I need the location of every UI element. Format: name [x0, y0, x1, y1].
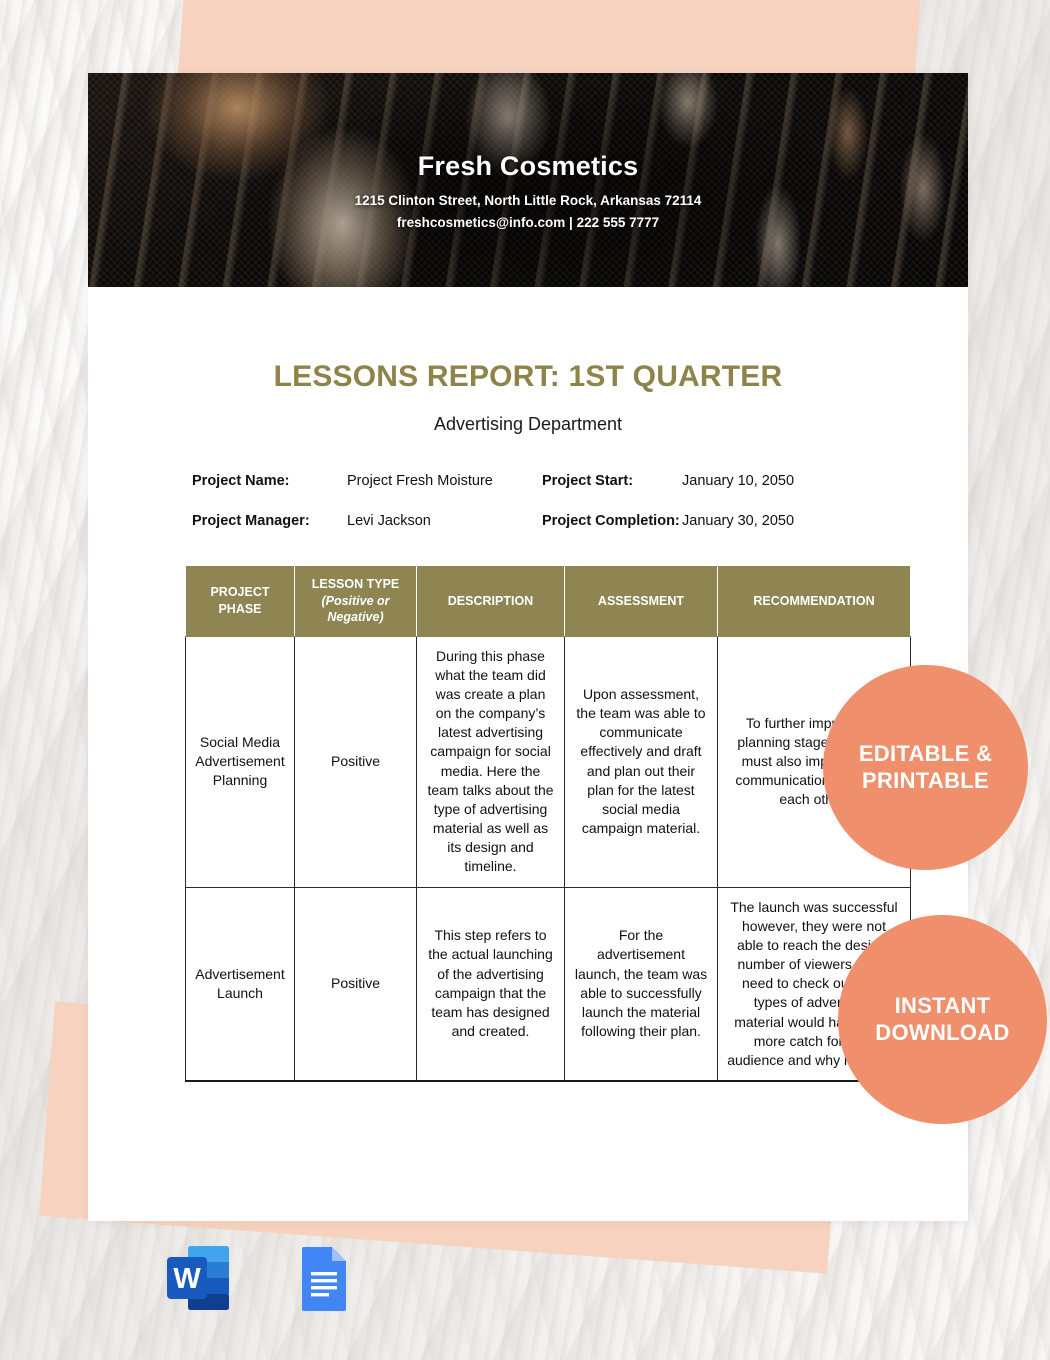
company-contact: freshcosmetics@info.com | 222 555 7777	[88, 215, 968, 230]
table-head: PROJECT PHASE LESSON TYPE (Positive or N…	[186, 566, 911, 637]
cell-lesson-type: Positive	[295, 887, 417, 1081]
badge-editable-printable: EDITABLE & PRINTABLE	[823, 665, 1028, 870]
badge-instant-download: INSTANT DOWNLOAD	[838, 915, 1047, 1124]
project-name-label: Project Name:	[192, 473, 347, 489]
header-banner: Fresh Cosmetics 1215 Clinton Street, Nor…	[88, 73, 968, 287]
cell-assessment: Upon assessment, the team was able to co…	[565, 636, 718, 887]
project-completion-value: January 30, 2050	[682, 513, 872, 529]
page-title: LESSONS REPORT: 1ST QUARTER	[88, 360, 968, 394]
company-name: Fresh Cosmetics	[88, 151, 968, 182]
column-header-description: DESCRIPTION	[417, 566, 565, 637]
svg-text:W: W	[173, 1263, 201, 1295]
project-name-value: Project Fresh Moisture	[347, 473, 542, 489]
project-completion-label: Project Completion:	[542, 513, 682, 529]
lessons-table: PROJECT PHASE LESSON TYPE (Positive or N…	[185, 565, 911, 1082]
company-address: 1215 Clinton Street, North Little Rock, …	[88, 193, 968, 208]
column-header-lesson-type: LESSON TYPE (Positive or Negative)	[295, 566, 417, 637]
google-docs-icon[interactable]	[290, 1243, 358, 1313]
project-start-value: January 10, 2050	[682, 473, 872, 489]
file-format-icons: W	[164, 1243, 358, 1313]
table-body: Social Media Advertisement Planning Posi…	[186, 636, 911, 1081]
cell-project-phase: Advertisement Launch	[186, 887, 295, 1081]
table-row: Advertisement Launch Positive This step …	[186, 887, 911, 1081]
lesson-type-main-label: LESSON TYPE	[312, 577, 400, 591]
lesson-type-note-label: (Positive or Negative)	[299, 593, 412, 626]
banner-text-block: Fresh Cosmetics 1215 Clinton Street, Nor…	[88, 151, 968, 230]
project-manager-value: Levi Jackson	[347, 513, 542, 529]
table-header-row: PROJECT PHASE LESSON TYPE (Positive or N…	[186, 566, 911, 637]
column-header-recommendation: RECOMMENDATION	[718, 566, 911, 637]
cell-project-phase: Social Media Advertisement Planning	[186, 636, 295, 887]
table-row: Social Media Advertisement Planning Posi…	[186, 636, 911, 887]
column-header-assessment: ASSESSMENT	[565, 566, 718, 637]
project-meta-grid: Project Name: Project Fresh Moisture Pro…	[192, 473, 872, 529]
cell-description: During this phase what the team did was …	[417, 636, 565, 887]
project-manager-label: Project Manager:	[192, 513, 347, 529]
page-subtitle: Advertising Department	[88, 414, 968, 435]
word-icon[interactable]: W	[164, 1243, 232, 1313]
cell-description: This step refers to the actual launching…	[417, 887, 565, 1081]
cell-lesson-type: Positive	[295, 636, 417, 887]
document-page: Fresh Cosmetics 1215 Clinton Street, Nor…	[88, 73, 968, 1221]
project-start-label: Project Start:	[542, 473, 682, 489]
cell-assessment: For the advertisement launch, the team w…	[565, 887, 718, 1081]
column-header-project-phase: PROJECT PHASE	[186, 566, 295, 637]
